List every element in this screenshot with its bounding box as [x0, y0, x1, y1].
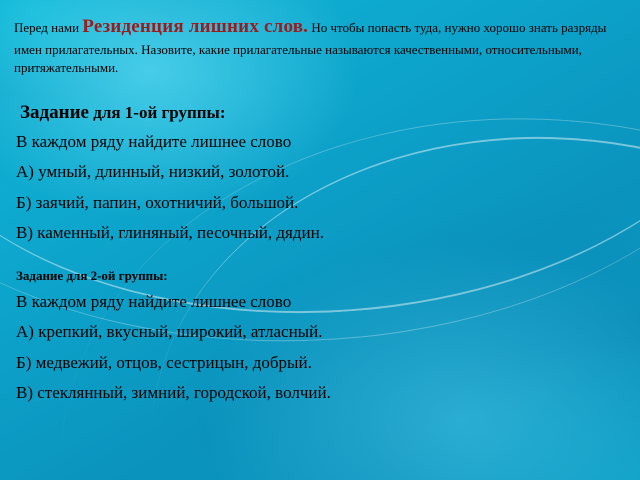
residence-title: Резиденция лишних слов. — [82, 16, 308, 37]
task-2-item-a: А) крепкий, вкусный, широкий, атласный. — [16, 319, 624, 345]
task-2-heading-strong: Задание — [16, 268, 63, 283]
slide-content: Перед нами Резиденция лишних слов. Но чт… — [0, 0, 640, 406]
slide-canvas: Перед нами Резиденция лишних слов. Но чт… — [0, 0, 640, 480]
intro-paragraph: Перед нами Резиденция лишних слов. Но чт… — [14, 14, 624, 78]
task-1-item-v: В) каменный, глиняный, песочный, дядин. — [16, 220, 624, 246]
task-1-heading: Задание для 1-ой группы: — [20, 102, 624, 124]
task-2-heading-rest: для 2-ой группы: — [66, 268, 167, 283]
task-1-heading-rest: для 1-ой группы: — [93, 103, 225, 122]
task-1-item-a: А) умный, длинный, низкий, золотой. — [16, 159, 624, 185]
task-1-block: Задание для 1-ой группы: В каждом ряду н… — [14, 102, 624, 246]
task-2-block: Задание для 2-ой группы: В каждом ряду н… — [14, 268, 624, 406]
task-1-heading-strong: Задание — [20, 102, 89, 123]
task-2-item-v: В) стеклянный, зимний, городской, волчий… — [16, 380, 624, 406]
task-2-instruction: В каждом ряду найдите лишнее слово — [16, 289, 624, 315]
intro-lead-in: Перед нами — [14, 20, 79, 35]
task-1-instruction: В каждом ряду найдите лишнее слово — [16, 129, 624, 155]
task-1-item-b: Б) заячий, папин, охотничий, большой. — [16, 190, 624, 216]
task-2-item-b: Б) медвежий, отцов, сестрицын, добрый. — [16, 350, 624, 376]
task-2-heading: Задание для 2-ой группы: — [16, 268, 624, 284]
